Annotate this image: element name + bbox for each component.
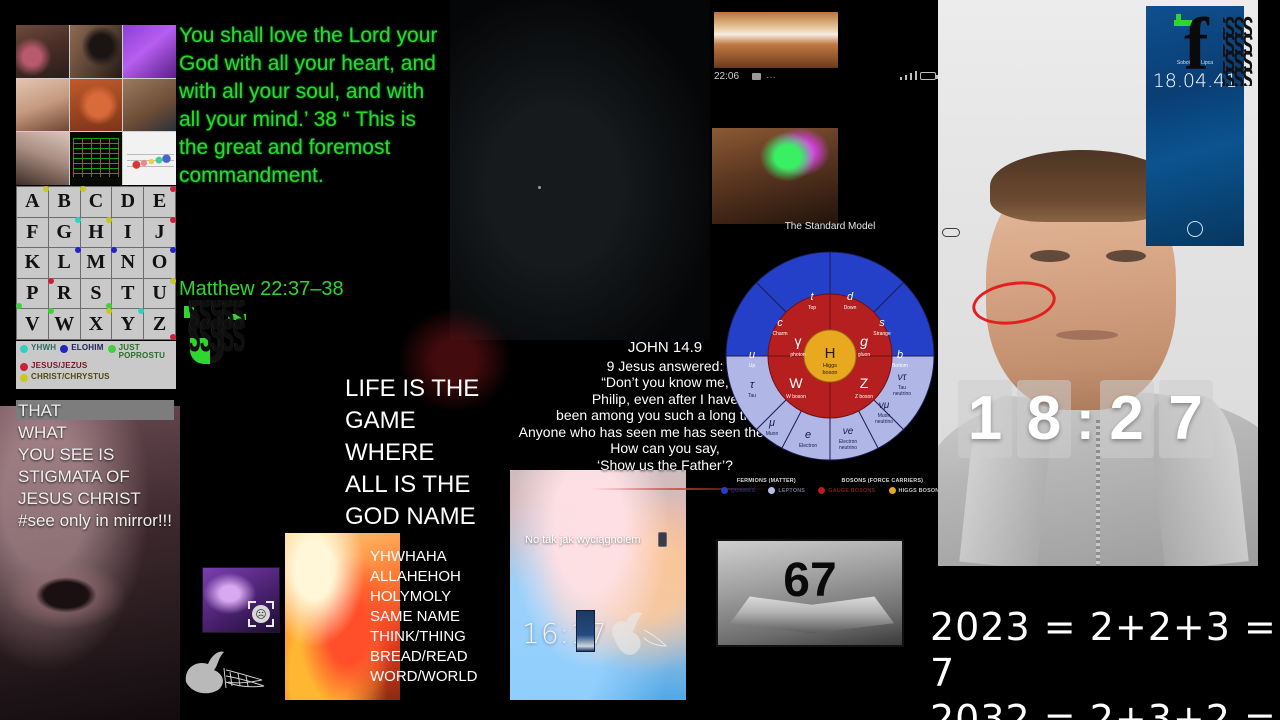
svg-text:e: e [805, 429, 811, 441]
cipher-letter-cell: P [17, 279, 48, 309]
face-photo-grid [16, 25, 176, 185]
cipher-letter-cell: Z [144, 309, 175, 339]
legend-group-title: FERMIONS (MATTER) [737, 478, 796, 484]
legend-entry: HIGGS BOSON [889, 487, 940, 494]
phone-mini-device-image [576, 610, 595, 652]
cipher-letter-cell: S [81, 279, 112, 309]
legend-entry: GAUGE BOSONS [818, 487, 875, 494]
battery-icon [920, 72, 936, 80]
signal-bar-icon [900, 77, 902, 80]
legend-label: HIGGS BOSON [899, 488, 940, 494]
cipher-letter-cell: U [144, 279, 175, 309]
cipher-letter-cell: L [49, 248, 80, 278]
cipher-dot [48, 278, 54, 284]
standard-model-wheel: c Charm t Top d Down s Strange b Bottom … [722, 236, 938, 476]
status-bar-time: 22:06 [714, 71, 739, 82]
cipher-letter: O [152, 251, 168, 274]
cipher-letter: W [54, 313, 74, 336]
legend-label: JESUS/JEZUS [31, 362, 87, 370]
legend-entry: LEPTONS [768, 487, 805, 494]
photo-cell-chart [70, 132, 123, 185]
photo-cell [16, 79, 69, 132]
svg-text:gluon: gluon [858, 352, 870, 358]
legend-color-dot [818, 487, 825, 494]
cipher-letter-cell: Y [112, 309, 143, 339]
god-names-panel: YHWHAHA ALLAHEHOH HOLYMOLY SAME NAME THI… [285, 533, 482, 700]
standard-model-title: The Standard Model [712, 221, 948, 232]
legend-label: JUST POPROSTU [119, 344, 159, 360]
god-name-line: WORD/WORLD [370, 667, 478, 687]
cipher-letter-cell: F [17, 218, 48, 248]
numerology-equations: 2023 = 2+2+3 = 7 2032 = 2+3+2 = 7 [930, 604, 1280, 720]
overflow-dots-icon: ··· [766, 72, 776, 83]
photo-cell [123, 79, 176, 132]
svg-text:Top: Top [808, 305, 816, 311]
cipher-letter-cell: M [81, 248, 112, 278]
person-eye-right [1106, 250, 1146, 262]
legend-entry: QUARKS [721, 487, 756, 494]
whale-doodle-icon [168, 638, 288, 710]
photo-cell [70, 25, 123, 78]
svg-text:c: c [777, 317, 783, 329]
svg-text:Z: Z [860, 375, 869, 391]
life-game-line: ALL IS THE [345, 469, 525, 501]
flip-clock-digit: 1 [958, 380, 1012, 458]
cipher-dot [170, 334, 176, 340]
watermark-glyphs: SSSSS [190, 300, 246, 318]
legend-color-dot [768, 487, 775, 494]
cipher-letter: D [121, 190, 135, 213]
svg-text:Z boson: Z boson [855, 394, 873, 400]
cipher-letter: B [58, 190, 71, 213]
cipher-letter: N [121, 251, 135, 274]
stigmata-text-block: THAT WHAT YOU SEE IS STIGMATA OF JESUS C… [18, 400, 248, 532]
svg-text:b: b [897, 349, 903, 361]
cipher-letter-cell: T [112, 279, 143, 309]
flip-clock-separator: : [1076, 387, 1095, 452]
cipher-letter-cell: N [112, 248, 143, 278]
skin-macro-photo [712, 128, 838, 224]
svg-text:s: s [879, 317, 885, 329]
svg-text:Charm: Charm [772, 331, 787, 337]
cipher-letter: J [155, 221, 165, 244]
lockscreen-unlock-ring-icon[interactable] [1187, 221, 1203, 237]
svg-text:neutrino: neutrino [893, 391, 911, 397]
distorted-f-glyph: f [1184, 8, 1209, 82]
photo-cell [123, 25, 176, 78]
legend-label: LEPTONS [778, 488, 805, 494]
god-name-line: YHWHAHA [370, 547, 478, 567]
cipher-letter-cell: R [49, 279, 80, 309]
face-smiley-icon: ☹ [252, 605, 270, 623]
svg-text:u: u [749, 349, 755, 361]
legend-label: QUARKS [731, 488, 756, 494]
photo-cell [70, 79, 123, 132]
legend-entry: JUST POPROSTU [108, 344, 159, 360]
cipher-letter-cell: H [81, 218, 112, 248]
phone-photo-thumbnail [714, 12, 838, 68]
cipher-letter-cell: G [49, 218, 80, 248]
collage-canvas: A B C D E F G H I J K L M N O P R S T U … [0, 0, 1280, 720]
stigmata-line: #see only in mirror!!! [18, 510, 248, 532]
cipher-letter: E [153, 190, 166, 213]
heart-doodle-icon [606, 604, 668, 662]
cipher-dot [111, 247, 117, 253]
legend-color-dot [108, 345, 116, 353]
svg-text:d: d [847, 291, 854, 303]
legend-label: ELOHIM [71, 344, 103, 352]
cipher-letter-cell: I [112, 218, 143, 248]
signal-bar-icon [915, 71, 917, 80]
svg-text:Tau: Tau [748, 393, 756, 399]
cipher-dot [170, 186, 176, 192]
legend-color-dot [20, 374, 28, 382]
person-mouth [1056, 330, 1118, 340]
phone-status-bar: 22:06 ··· [712, 71, 942, 85]
status-bar-indicators [900, 71, 936, 80]
svg-text:W boson: W boson [786, 394, 806, 400]
legend-entry: YHWH [20, 344, 56, 353]
face-detection-frame-icon: ☹ [248, 601, 274, 627]
purple-photo-thumbnail[interactable]: ☹ [202, 567, 280, 633]
svg-text:νe: νe [843, 426, 854, 437]
cipher-letter: Y [121, 313, 135, 336]
legend-label: GAUGE BOSONS [828, 488, 875, 494]
svg-text:H: H [825, 345, 836, 362]
god-name-line: BREAD/READ [370, 647, 478, 667]
phone-screenshot-1617: No tak jak wyciągnolem 16:17 [510, 470, 686, 700]
legend-label: YHWH [31, 344, 56, 352]
cipher-dot [170, 278, 176, 284]
dark-background-panel [450, 0, 710, 340]
equation-line: 2032 = 2+3+2 = 7 [930, 696, 1280, 720]
svg-text:νμ: νμ [879, 400, 890, 411]
cipher-letter: P [26, 282, 38, 305]
cipher-letter: R [57, 282, 71, 305]
cipher-letter: M [87, 251, 106, 274]
speck-dot [538, 186, 541, 189]
scripture-reference: Matthew 22:37–38 [179, 278, 344, 301]
svg-text:neutrino: neutrino [839, 445, 857, 451]
photo-cell-diagram [123, 132, 176, 185]
cipher-letter: H [88, 221, 104, 244]
legend-entry: JESUS/JEZUS [20, 362, 87, 371]
cipher-letter-cell: D [112, 187, 143, 217]
standard-model-legend: FERMIONS (MATTER) BOSONS (FORCE CARRIERS… [714, 478, 946, 494]
bible-67-image: 67 [716, 539, 904, 647]
cipher-letter-cell: W [49, 309, 80, 339]
photo-cell [16, 25, 69, 78]
svg-text:μ: μ [768, 417, 775, 429]
signal-bar-icon [905, 75, 907, 80]
svg-text:γ: γ [795, 333, 802, 349]
cipher-letter: V [25, 313, 39, 336]
stigmata-line: JESUS CHRIST [18, 488, 248, 510]
message-icon [752, 73, 761, 80]
legend-color-dot [20, 363, 28, 371]
legend-color-dot [20, 345, 28, 353]
bible-number-67: 67 [718, 553, 902, 608]
cipher-dot [170, 217, 176, 223]
god-name-line: THINK/THING [370, 627, 478, 647]
cipher-letter-cell: O [144, 248, 175, 278]
curl-row: SSSSSS [1223, 18, 1253, 35]
cipher-letter: L [58, 251, 71, 274]
svg-text:Up: Up [749, 363, 756, 369]
svg-text:g: g [860, 333, 868, 349]
cipher-letter: C [89, 190, 103, 213]
phone-emoji-icon [658, 532, 667, 547]
stigmata-line: YOU SEE IS [18, 444, 248, 466]
svg-text:Down: Down [844, 305, 857, 311]
phone-caption-text: No tak jak wyciągnolem [525, 534, 641, 546]
god-name-line: HOLYMOLY [370, 587, 478, 607]
svg-text:Bottom: Bottom [892, 363, 908, 369]
legend-label: CHRIST/CHRYSTUS [31, 373, 110, 381]
link-icon [942, 228, 960, 237]
cipher-letter: A [25, 190, 39, 213]
cipher-letter: I [124, 221, 132, 244]
cipher-dot [48, 308, 54, 314]
equation-line: 2023 = 2+2+3 = 7 [930, 604, 1280, 696]
svg-text:Strange: Strange [873, 331, 891, 337]
svg-text:photon: photon [790, 352, 806, 358]
cipher-letter: S [90, 282, 101, 305]
legend-group-title: BOSONS (FORCE CARRIERS) [842, 478, 924, 484]
flip-clock-digit: 8 [1017, 380, 1071, 458]
legend-entry: CHRIST/CHRYSTUS [20, 373, 110, 382]
cipher-legend: YHWH ELOHIM JUST POPROSTU JESUS/JEZUS CH… [16, 341, 176, 389]
cipher-letter: Z [153, 313, 166, 336]
svg-text:Higgs: Higgs [823, 363, 837, 369]
person-eye-left [1030, 250, 1070, 262]
legend-color-dot [60, 345, 68, 353]
god-names-list: YHWHAHA ALLAHEHOH HOLYMOLY SAME NAME THI… [370, 547, 478, 687]
stigmata-line: STIGMATA OF [18, 466, 248, 488]
cipher-letter-cell: K [17, 248, 48, 278]
alphabet-cipher-grid: A B C D E F G H I J K L M N O P R S T U … [16, 186, 176, 340]
signal-bar-icon [910, 73, 912, 80]
stigmata-eye-detail [6, 560, 126, 630]
cipher-letter: X [89, 313, 103, 336]
flip-clock-overlay: 1 8 : 2 7 [958, 380, 1213, 458]
stigmata-line: THAT [18, 400, 248, 422]
cipher-letter-cell: A [17, 187, 48, 217]
god-name-line: SAME NAME [370, 607, 478, 627]
life-game-line: GOD NAME [345, 501, 525, 533]
legend-entry: ELOHIM [60, 344, 103, 353]
cipher-letter: T [121, 282, 134, 305]
distorted-jesus-watermark: SSSSS SSSSS SSSSS [184, 300, 294, 378]
legend-color-dot [889, 487, 896, 494]
legend-color-dot [721, 487, 728, 494]
svg-text:W: W [789, 375, 803, 391]
cipher-dot [80, 186, 86, 192]
svg-text:Electron: Electron [799, 443, 818, 449]
cipher-letter: K [25, 251, 41, 274]
cipher-dot [170, 247, 176, 253]
distorted-curl-glyphs: SSSSSS SSSSSS SSSSSS SSSSSS [1223, 14, 1253, 86]
cipher-letter-cell: E [144, 187, 175, 217]
svg-text:ντ: ντ [898, 372, 908, 383]
svg-text:neutrino: neutrino [875, 419, 893, 425]
cipher-letter: F [26, 221, 38, 244]
flip-clock-digit: 7 [1159, 380, 1213, 458]
stigmata-line: WHAT [18, 422, 248, 444]
cipher-letter-cell: J [144, 218, 175, 248]
scripture-text: You shall love the Lord your God with al… [179, 22, 449, 190]
god-name-line: ALLAHEHOH [370, 567, 478, 587]
cipher-letter: G [56, 221, 72, 244]
flip-clock-digit: 2 [1100, 380, 1154, 458]
photo-cell [16, 132, 69, 185]
svg-text:boson: boson [823, 370, 838, 376]
cipher-letter: U [152, 282, 166, 305]
svg-text:Muon: Muon [766, 431, 779, 437]
cipher-letter-cell: V [17, 309, 48, 339]
cipher-letter-cell: X [81, 309, 112, 339]
cipher-letter-cell: C [81, 187, 112, 217]
cipher-letter-cell: B [49, 187, 80, 217]
